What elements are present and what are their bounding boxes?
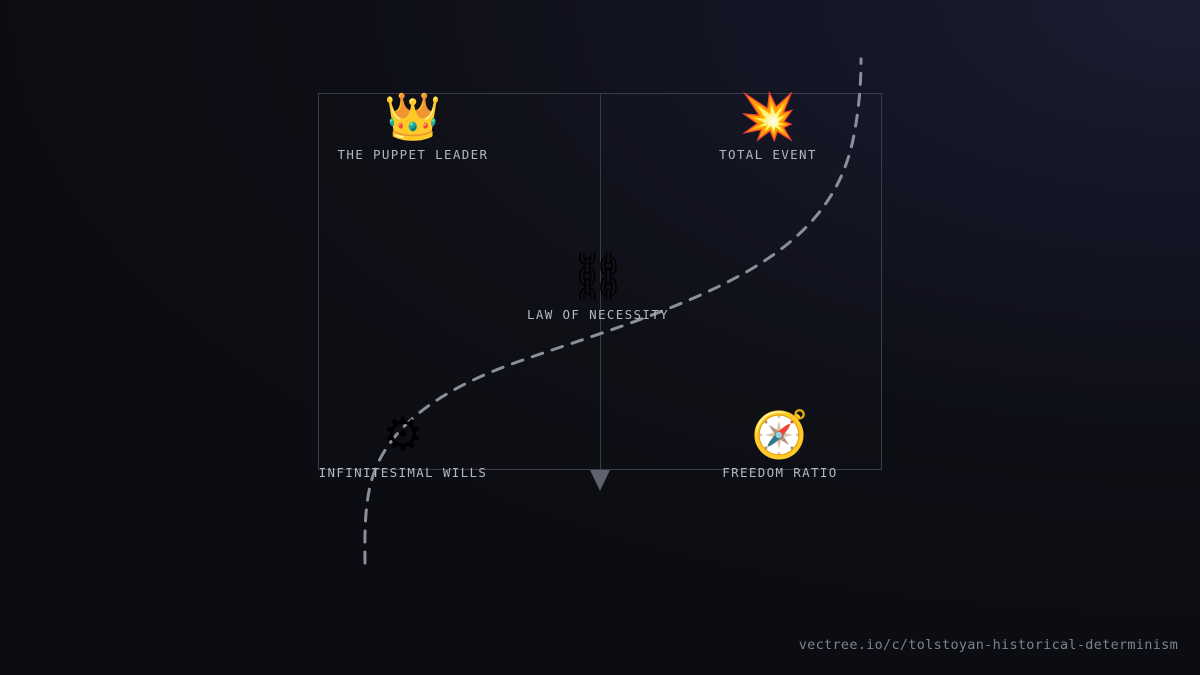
- quadrant-label-infinitesimal-wills: INFINITESIMAL WILLS: [319, 465, 488, 480]
- quadrant-label-total-event: TOTAL EVENT: [719, 147, 817, 162]
- compass-emoji-icon: 🧭: [650, 406, 910, 462]
- quadrant-chart: 👑 THE PUPPET LEADER 💥 TOTAL EVENT ⛓ LAW …: [318, 93, 882, 470]
- poster-url: vectree.io/c/tolstoyan-historical-determ…: [799, 637, 1178, 653]
- poster-footer: Vectree Tolstoy's theory of history and …: [0, 495, 1200, 675]
- crown-emoji-icon: 👑: [283, 88, 543, 144]
- poster-canvas: 👑 THE PUPPET LEADER 💥 TOTAL EVENT ⛓ LAW …: [0, 0, 1200, 675]
- quadrant-node-law-of-necessity[interactable]: ⛓ LAW OF NECESSITY: [468, 248, 728, 323]
- quadrant-label-law-of-necessity: LAW OF NECESSITY: [527, 307, 669, 322]
- quadrant-label-puppet: THE PUPPET LEADER: [338, 147, 489, 162]
- triangle-down-marker-icon: [590, 470, 610, 491]
- quadrant-node-puppet[interactable]: 👑 THE PUPPET LEADER: [283, 88, 543, 163]
- quadrant-node-freedom-ratio[interactable]: 🧭 FREEDOM RATIO: [650, 406, 910, 481]
- quadrant-node-total-event[interactable]: 💥 TOTAL EVENT: [638, 88, 898, 163]
- explosion-emoji-icon: 💥: [638, 88, 898, 144]
- quadrant-node-infinitesimal-wills[interactable]: ⚙ INFINITESIMAL WILLS: [273, 406, 533, 481]
- quadrant-label-freedom-ratio: FREEDOM RATIO: [722, 465, 837, 480]
- gear-emoji-icon: ⚙: [273, 406, 533, 462]
- chains-emoji-icon: ⛓: [468, 248, 728, 304]
